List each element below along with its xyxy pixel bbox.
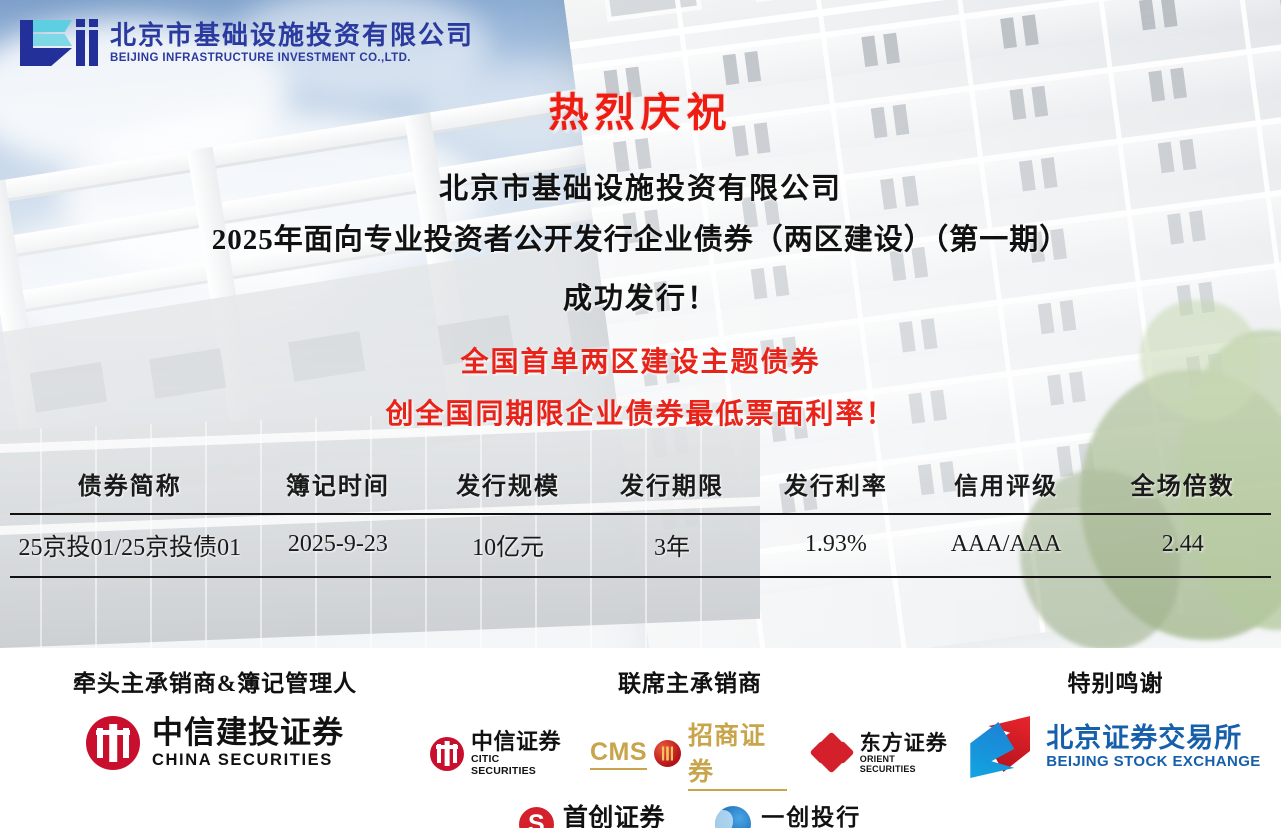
logo-beijing-stock-exchange: 北京证券交易所 BEIJING STOCK EXCHANGE (970, 716, 1260, 778)
logo-company-name-cn: 北京市基础设施投资有限公司 (110, 22, 474, 49)
td-coupon-rate: 1.93% (754, 514, 918, 577)
headline-line-3: 成功发行！ (0, 275, 1281, 317)
td-subscription-multiple: 2.44 (1094, 514, 1271, 577)
cms-emblem-icon (654, 740, 681, 767)
logo-capital-securities: 首创证券 CAPITAL SECURITIES (519, 805, 689, 828)
bond-details-table: 债券简称 簿记时间 发行规模 发行期限 发行利率 信用评级 全场倍数 25京投0… (10, 462, 1271, 578)
th-bond-name: 债券简称 (10, 462, 250, 514)
footer-column-lead-underwriter: 牵头主承销商&簿记管理人 中信建投证券 CHINA SECURITIES (0, 648, 430, 828)
china-securities-name-cn: 中信建投证券 (152, 717, 344, 750)
th-book-date: 簿记时间 (250, 462, 427, 514)
logo-orient-securities: 东方证券 ORIENT SECURITIES (813, 733, 950, 775)
table-header-row: 债券简称 簿记时间 发行规模 发行期限 发行利率 信用评级 全场倍数 (10, 462, 1271, 514)
celebrate-headline: 热烈庆祝 (0, 80, 1281, 138)
citic-emblem-icon (430, 737, 464, 771)
td-tenor: 3年 (590, 514, 754, 577)
china-securities-name-en: CHINA SECURITIES (152, 751, 344, 769)
th-issue-size: 发行规模 (426, 462, 590, 514)
logo-company-name-en: BEIJING INFRASTRUCTURE INVESTMENT CO.,LT… (110, 52, 474, 64)
footer-sponsors: 牵头主承销商&簿记管理人 中信建投证券 CHINA SECURITIES 联席主… (0, 648, 1281, 828)
logo-china-merchants-securities: CMS 招商证券 (590, 716, 787, 791)
logo-fcib: 一创投行 FCIB (715, 805, 861, 828)
logo-citic-securities: 中信证券 CITIC SECURITIES (430, 730, 564, 777)
fcib-globe-icon (715, 806, 751, 828)
footer-title-special-thanks: 特别鸣谢 (1068, 664, 1164, 698)
highlight-line-2: 创全国同期限企业债券最低票面利率！ (0, 392, 1281, 432)
bse-name-en: BEIJING STOCK EXCHANGE (1046, 754, 1260, 771)
td-bond-name: 25京投01/25京投债01 (10, 514, 250, 577)
highlight-line-1: 全国首单两区建设主题债券 (0, 340, 1281, 380)
bse-name-cn: 北京证券交易所 (1046, 724, 1260, 752)
td-issue-size: 10亿元 (426, 514, 590, 577)
th-credit-rating: 信用评级 (918, 462, 1095, 514)
cms-abbr: CMS (590, 738, 647, 770)
citic-securities-name-en: CITIC SECURITIES (471, 754, 564, 777)
cms-name-cn: 招商证券 (688, 716, 787, 791)
footer-title-lead-underwriter: 牵头主承销商&簿记管理人 (73, 664, 357, 698)
bond-issuance-celebration-poster: 北京市基础设施投资有限公司 BEIJING INFRASTRUCTURE INV… (0, 0, 1281, 828)
td-book-date: 2025-9-23 (250, 514, 427, 577)
footer-column-special-thanks: 特别鸣谢 北京证券交易所 BEIJING STOCK EXCHANGE (950, 648, 1281, 828)
capital-s-icon (519, 807, 554, 828)
th-subscription-multiple: 全场倍数 (1094, 462, 1271, 514)
td-credit-rating: AAA/AAA (918, 514, 1095, 577)
bii-logo-icon (20, 18, 98, 68)
citic-securities-name-cn: 中信证券 (471, 730, 564, 753)
headline-line-1: 北京市基础设施投资有限公司 (0, 165, 1281, 207)
th-coupon-rate: 发行利率 (754, 462, 918, 514)
orient-diamond-icon (813, 736, 851, 770)
footer-title-joint-underwriters: 联席主承销商 (618, 664, 762, 698)
bse-emblem-icon (970, 716, 1032, 778)
headline-line-2: 2025年面向专业投资者公开发行企业债券（两区建设）（第一期） (0, 216, 1281, 258)
th-tenor: 发行期限 (590, 462, 754, 514)
logo-china-securities: 中信建投证券 CHINA SECURITIES (86, 716, 344, 770)
citic-emblem-icon (86, 716, 140, 770)
orient-securities-name-en: ORIENT SECURITIES (860, 755, 950, 775)
bii-company-logo: 北京市基础设施投资有限公司 BEIJING INFRASTRUCTURE INV… (20, 18, 474, 68)
fcib-name-cn: 一创投行 (761, 805, 861, 828)
capital-securities-name-cn: 首创证券 (563, 805, 689, 828)
orient-securities-name-cn: 东方证券 (860, 733, 950, 755)
table-row: 25京投01/25京投债01 2025-9-23 10亿元 3年 1.93% A… (10, 514, 1271, 577)
footer-column-joint-underwriters: 联席主承销商 中信证券 CITIC SECURITIES CMS 招商证券 (430, 648, 950, 828)
